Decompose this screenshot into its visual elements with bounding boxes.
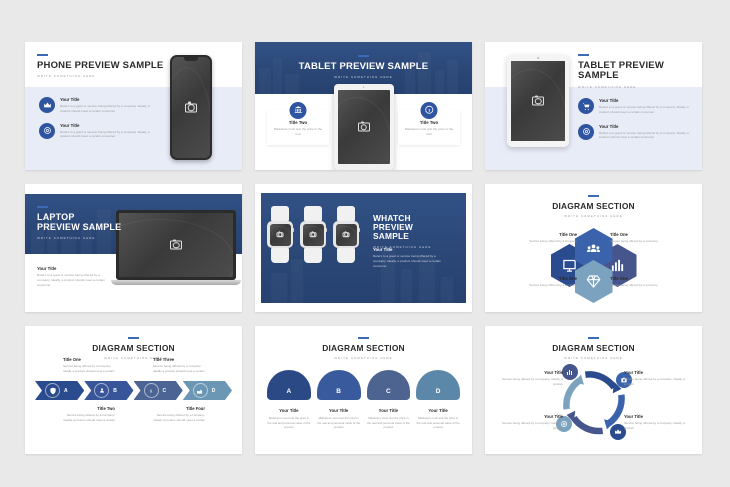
dome-title: Your Title <box>367 408 411 413</box>
slide-header: TABLET PREVIEW SAMPLE WRITE SOMETHING HE… <box>255 55 472 79</box>
cycle-label-text: Service being offered by a company. Idea… <box>624 377 688 386</box>
card-text: Marketers must test the price in the rea… <box>404 127 454 137</box>
page-subtitle: WRITE SOMETHING HERE <box>255 356 472 360</box>
camera-icon <box>343 232 350 238</box>
dome-shape: A <box>267 370 311 400</box>
chevron-label: Title Three Service being offered by a c… <box>153 357 205 373</box>
chevron-letter: B <box>113 388 117 394</box>
list-item[interactable]: Your Title Refers to a good or service b… <box>39 97 151 114</box>
chevron-label-text: Service being offered by a company. Idea… <box>153 364 205 373</box>
tablet-screen <box>511 61 565 141</box>
watch-band-top <box>304 206 322 221</box>
cycle-label: Your Title Service being offered by a co… <box>499 414 563 430</box>
page-title: DIAGRAM SECTION <box>485 344 702 353</box>
chevron-step-b[interactable]: B <box>84 381 133 400</box>
camera-icon <box>358 123 370 132</box>
cycle-label-title: Your Title <box>624 370 688 375</box>
camera-icon <box>532 97 544 106</box>
chevron-label-title: Title Four <box>153 406 205 411</box>
info-card[interactable]: Title Two Marketers must test the price … <box>267 110 329 145</box>
diamond-icon <box>586 274 601 289</box>
page-title: TABLET PREVIEW SAMPLE <box>578 61 690 82</box>
chevron-label-title: Title One <box>63 357 115 362</box>
card-title: Title Two <box>273 120 323 125</box>
list-item[interactable]: Your Title Refers to a good or service b… <box>578 124 690 141</box>
hex-label-text: Service being offered by a company <box>507 283 577 287</box>
watch-screen <box>270 224 291 246</box>
feature-list: Your Title Refers to a good or service b… <box>39 97 151 148</box>
bank-icon <box>290 102 307 119</box>
slide-watch-preview[interactable]: WHATCH PREVIEW SAMPLE WRITE SOMETHING HE… <box>255 184 472 312</box>
accent-rule <box>128 337 139 339</box>
dome-shape: B <box>317 370 361 400</box>
list-item[interactable]: Your Title Refers to a good or service b… <box>578 98 690 115</box>
body-text: Refers to a good or service being offere… <box>373 254 443 268</box>
slide-header: DIAGRAM SECTION WRITE SOMETHING HERE <box>25 337 242 360</box>
chevron-label-text: Service being offered by a company. Idea… <box>63 413 115 422</box>
slide-phone-preview[interactable]: PHONE PREVIEW SAMPLE WRITE SOMETHING HER… <box>25 42 242 170</box>
people-icon <box>94 383 109 398</box>
phone-notch <box>184 57 198 61</box>
camera-icon <box>277 232 284 238</box>
laptop-screen <box>119 213 233 277</box>
watch-screen <box>303 224 324 246</box>
chevron-label-title: Title Two <box>63 406 115 411</box>
crown-icon <box>614 428 622 436</box>
slide-header: DIAGRAM SECTION WRITE SOMETHING HERE <box>485 195 702 218</box>
cycle-label-title: Your Title <box>499 414 563 419</box>
watch-band-bottom <box>271 248 289 263</box>
dome-text: Marketers must test the price in the rea… <box>317 416 361 430</box>
list-item-title: Your Title <box>599 98 690 103</box>
watch-band-bottom <box>337 248 355 263</box>
tablet-mockup <box>507 55 569 147</box>
tablet-screen <box>338 90 390 164</box>
hex-label-text: Service being offered by a company <box>610 283 680 287</box>
accent-rule <box>37 54 48 56</box>
accent-rule <box>358 337 369 339</box>
dome-item[interactable]: C Your Title Marketers must test the pri… <box>367 370 411 430</box>
list-item-title: Your Title <box>60 97 151 102</box>
hex-label-title: Title One <box>610 232 680 237</box>
watch-case <box>300 221 326 248</box>
dome-title: Your Title <box>267 408 311 413</box>
hex-label: Title One Service being offered by a com… <box>610 232 680 243</box>
chevron-step-a[interactable]: A <box>35 381 84 400</box>
page-title-line2: PREVIEW SAMPLE <box>37 223 121 233</box>
watch-case <box>267 221 293 248</box>
dome-shape: D <box>416 370 460 400</box>
slide-thumbnail-grid: PHONE PREVIEW SAMPLE WRITE SOMETHING HER… <box>0 0 730 487</box>
cycle-label: Your Title Service being offered by a co… <box>624 414 688 430</box>
card-title: Title Two <box>404 120 454 125</box>
slide-diagram-hexagon[interactable]: DIAGRAM SECTION WRITE SOMETHING HERE Tit… <box>485 184 702 312</box>
hex-label: Title One Service being offered by a com… <box>507 232 577 243</box>
dome-text: Marketers must test the price in the rea… <box>416 416 460 430</box>
laptop-mockup <box>116 210 236 285</box>
watch-screen <box>336 224 357 246</box>
dome-item[interactable]: B Your Title Marketers must test the pri… <box>317 370 361 430</box>
shield-icon <box>45 383 60 398</box>
slide-diagram-cycle[interactable]: DIAGRAM SECTION WRITE SOMETHING HERE You… <box>485 326 702 454</box>
body-text: Refers to a good or service being offere… <box>37 273 109 287</box>
info-card[interactable]: Title Two Marketers must test the price … <box>398 110 460 145</box>
info-icon <box>421 102 438 119</box>
phone-mockup <box>170 55 212 160</box>
page-title: TABLET PREVIEW SAMPLE <box>255 62 472 72</box>
slide-header: LAPTOP PREVIEW SAMPLE WRITE SOMETHING HE… <box>37 206 121 240</box>
accent-rule <box>588 195 599 197</box>
chevron-label: Title Two Service being offered by a com… <box>63 406 115 422</box>
list-item-text: Refers to a good or service being offere… <box>599 131 690 141</box>
chevron-letter: C <box>163 388 167 394</box>
list-item[interactable]: Your Title Refers to a good or service b… <box>39 123 151 140</box>
dome-item[interactable]: D Your Title Marketers must test the pri… <box>416 370 460 430</box>
slide-tablet-preview-right[interactable]: TABLET PREVIEW SAMPLE WRITE SOMETHING HE… <box>485 42 702 170</box>
chevron-step-d[interactable]: D <box>183 381 232 400</box>
watch-crown <box>293 228 295 232</box>
chevron-letter: A <box>64 388 68 394</box>
page-subtitle: WRITE SOMETHING HERE <box>25 356 242 360</box>
dome-text: Marketers must test the price in the rea… <box>367 416 411 430</box>
page-title-line2: PREVIEW SAMPLE <box>373 223 451 241</box>
watch-mockup <box>267 206 293 263</box>
slide-header: DIAGRAM SECTION WRITE SOMETHING HERE <box>255 337 472 360</box>
cart-icon <box>578 98 594 114</box>
watch-band-bottom <box>304 248 322 263</box>
gear-icon <box>578 124 594 140</box>
chevron-process: A B C D <box>35 381 232 400</box>
phone-screen <box>172 57 210 158</box>
people-icon <box>586 242 601 257</box>
camera-icon <box>170 241 182 250</box>
page-title: DIAGRAM SECTION <box>25 344 242 353</box>
page-subtitle: WRITE SOMETHING HERE <box>255 75 472 79</box>
dome-title: Your Title <box>317 408 361 413</box>
list-item-text: Refers to a good or service being offere… <box>599 105 690 115</box>
tablet-mockup <box>334 84 394 170</box>
list-item-title: Your Title <box>60 123 151 128</box>
card-text: Marketers must test the price in the rea… <box>273 127 323 137</box>
cycle-node-chart[interactable] <box>562 364 578 380</box>
cycle-label-text: Service being offered by a company. Idea… <box>499 421 563 430</box>
chevron-label: Title Four Service being offered by a co… <box>153 406 205 422</box>
page-title: PHONE PREVIEW SAMPLE <box>37 61 163 71</box>
crown-icon <box>39 97 55 113</box>
accent-rule <box>37 206 48 208</box>
page-subtitle: WRITE SOMETHING HERE <box>37 74 163 78</box>
laptop-base <box>111 280 241 285</box>
chevron-label-title: Title Three <box>153 357 205 362</box>
cycle-label-title: Your Title <box>499 370 563 375</box>
chevron-step-c[interactable]: C <box>134 381 183 400</box>
watch-mockup <box>333 206 359 263</box>
camera-icon <box>185 103 197 112</box>
hex-label-text: Service being offered by a company <box>610 239 680 243</box>
cycle-diagram <box>558 366 630 438</box>
watch-band-top <box>271 206 289 221</box>
hex-label-title: Title One <box>507 232 577 237</box>
dome-title: Your Title <box>416 408 460 413</box>
hex-label: Title One Service being offered by a com… <box>507 276 577 287</box>
body-block: Your Title Refers to a good or service b… <box>373 247 443 268</box>
page-subtitle: WRITE SOMETHING HERE <box>485 356 702 360</box>
dome-item[interactable]: A Your Title Marketers must test the pri… <box>267 370 311 430</box>
factory-icon <box>193 383 208 398</box>
dome-text: Marketers must test the price in the rea… <box>267 416 311 430</box>
chevron-label: Title One Service being offered by a com… <box>63 357 115 373</box>
slide-diagram-chevron[interactable]: DIAGRAM SECTION WRITE SOMETHING HERE A B… <box>25 326 242 454</box>
slide-header: DIAGRAM SECTION WRITE SOMETHING HERE <box>485 337 702 360</box>
page-subtitle: WRITE SOMETHING HERE <box>37 236 121 240</box>
slide-tablet-preview-hero[interactable]: TABLET PREVIEW SAMPLE WRITE SOMETHING HE… <box>255 42 472 170</box>
dome-shape: C <box>367 370 411 400</box>
watch-mockups <box>267 206 359 263</box>
laptop-lid <box>116 210 236 280</box>
watch-mockup <box>300 206 326 263</box>
feature-list: Your Title Refers to a good or service b… <box>578 98 690 149</box>
body-title: Your Title <box>37 266 109 271</box>
hex-label: Title One Service being offered by a com… <box>610 276 680 287</box>
tablet-camera-dot <box>537 57 539 59</box>
hex-label-text: Service being offered by a company <box>507 239 577 243</box>
list-item-text: Refers to a good or service being offere… <box>60 130 151 140</box>
accent-rule <box>578 54 589 56</box>
watch-case <box>333 221 359 248</box>
page-title: DIAGRAM SECTION <box>255 344 472 353</box>
slide-header: PHONE PREVIEW SAMPLE WRITE SOMETHING HER… <box>37 54 163 78</box>
cycle-label-text: Service being offered by a company. Idea… <box>624 421 688 430</box>
cycle-label: Your Title Service being offered by a co… <box>499 370 563 386</box>
chevron-label-text: Service being offered by a company. Idea… <box>153 413 205 422</box>
gear-icon <box>39 123 55 139</box>
page-subtitle: WRITE SOMETHING HERE <box>578 85 690 89</box>
camera-icon <box>310 232 317 238</box>
tablet-camera-dot <box>363 86 365 88</box>
bar-chart-icon <box>566 368 574 376</box>
slide-header: TABLET PREVIEW SAMPLE WRITE SOMETHING HE… <box>578 54 690 89</box>
body-title: Your Title <box>373 247 443 252</box>
slide-header: WHATCH PREVIEW SAMPLE WRITE SOMETHING HE… <box>373 214 451 249</box>
list-item-text: Refers to a good or service being offere… <box>60 104 151 114</box>
dome-group: A Your Title Marketers must test the pri… <box>267 370 460 430</box>
cycle-label-title: Your Title <box>624 414 688 419</box>
slide-diagram-domes[interactable]: DIAGRAM SECTION WRITE SOMETHING HERE A Y… <box>255 326 472 454</box>
body-block: Your Title Refers to a good or service b… <box>37 266 109 287</box>
slide-laptop-preview[interactable]: LAPTOP PREVIEW SAMPLE WRITE SOMETHING HE… <box>25 184 242 312</box>
watch-band-top <box>337 206 355 221</box>
accent-rule <box>588 337 599 339</box>
cycle-label: Your Title Service being offered by a co… <box>624 370 688 386</box>
hex-label-title: Title One <box>507 276 577 281</box>
page-subtitle: WRITE SOMETHING HERE <box>485 214 702 218</box>
chevron-label-text: Service being offered by a company. Idea… <box>63 364 115 373</box>
watch-crown <box>326 228 328 232</box>
chevron-letter: D <box>212 388 216 394</box>
hex-label-title: Title One <box>610 276 680 281</box>
cycle-label-text: Service being offered by a company. Idea… <box>499 377 563 386</box>
page-title: DIAGRAM SECTION <box>485 202 702 211</box>
info-icon <box>144 383 159 398</box>
accent-rule <box>358 55 369 57</box>
list-item-title: Your Title <box>599 124 690 129</box>
